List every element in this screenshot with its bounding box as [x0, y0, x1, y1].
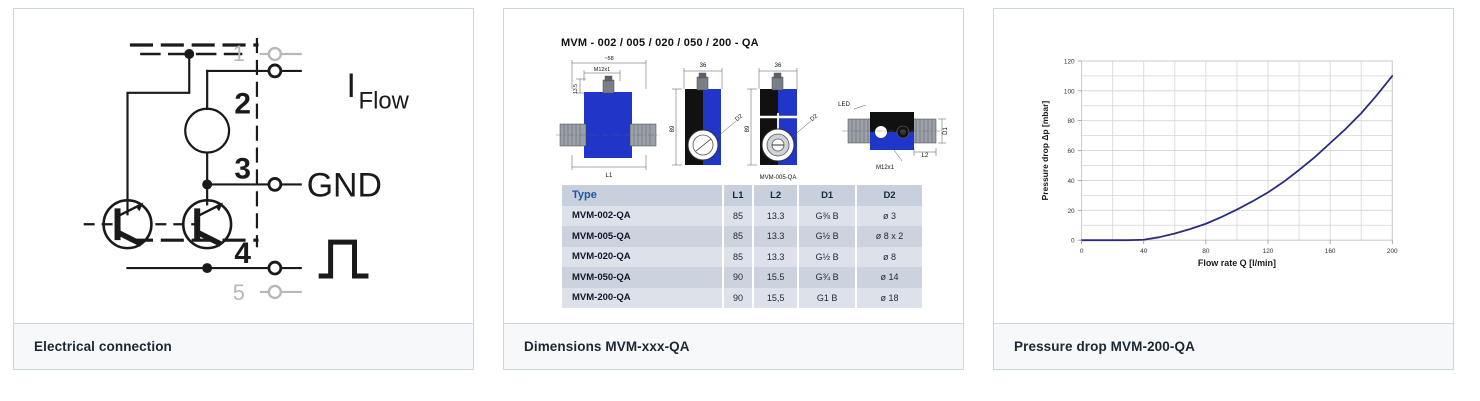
terminal-ring-5 — [269, 286, 281, 298]
pulse-waveform-icon — [319, 242, 369, 276]
cell-l2: 15,5 — [753, 288, 798, 309]
panel-caption-electrical: Electrical connection — [14, 323, 473, 369]
terminal-ring-1 — [269, 48, 281, 60]
callout-height-89-b: 89 — [745, 125, 751, 132]
chart-x-tick: 200 — [1387, 248, 1398, 255]
column-header-l2: L2 — [753, 185, 798, 206]
drawing-view-top: LED D1 L2 M12x1 — [838, 102, 949, 171]
dimensions-table: Type L1 L2 D1 D2 MVM-002-QA 85 13.3 G⅜ B… — [562, 185, 922, 308]
caption-text: Electrical connection — [34, 339, 172, 354]
cell-l1: 85 — [723, 206, 753, 227]
dimensions-figure: MVM - 002 / 005 / 020 / 050 / 200 - QA — [504, 9, 963, 323]
callout-l2: L2 — [922, 153, 929, 159]
junction-dot-gnd — [202, 179, 212, 189]
caption-text: Pressure drop MVM-200-QA — [1014, 339, 1195, 354]
chart-x-tick: 0 — [1080, 248, 1084, 255]
cell-type: MVM-050-QA — [562, 267, 723, 288]
terminal-ring-4 — [269, 262, 281, 274]
terminal-number-4: 4 — [234, 237, 251, 270]
cell-type: MVM-002-QA — [562, 206, 723, 227]
table-row: MVM-005-QA 85 13.3 G½ B ø 8 x 2 — [562, 226, 922, 247]
cell-l2: 13.3 — [753, 247, 798, 268]
chart-y-tick: 120 — [1064, 58, 1075, 65]
chart-x-tick: 80 — [1202, 248, 1210, 255]
callout-thread-side: M12x1 — [876, 165, 895, 171]
column-header-type: Type — [562, 185, 723, 206]
electrical-schematic: 1 2 3 4 5 I Flow GND — [14, 9, 473, 323]
table-row: MVM-200-QA 90 15,5 G1 B ø 18 — [562, 288, 922, 309]
chart-y-tick-labels: 020406080100120 — [1064, 58, 1082, 244]
panel-caption-pressure-drop: Pressure drop MVM-200-QA — [994, 323, 1453, 369]
callout-d1: D1 — [943, 127, 949, 135]
callout-width-36-a: 36 — [700, 63, 707, 69]
chart-x-tick: 40 — [1140, 248, 1148, 255]
callout-height-small: 13.5 — [573, 84, 579, 94]
callout-d2-b: D2 — [809, 113, 819, 123]
cell-l2: 15.5 — [753, 267, 798, 288]
chart-y-tick: 80 — [1067, 118, 1075, 125]
cell-d1: G½ B — [798, 247, 856, 268]
callout-variant-label: MVM-005-QA — [760, 175, 797, 181]
label-current-subscript: Flow — [358, 88, 409, 115]
electrical-connection-figure: 1 2 3 4 5 I Flow GND — [14, 9, 473, 323]
terminal-number-5: 5 — [233, 280, 245, 305]
callout-width-36-b: 36 — [775, 63, 782, 69]
chart-y-tick: 100 — [1064, 88, 1075, 95]
terminal-ring-2 — [269, 65, 281, 77]
chart-x-axis-label: Flow rate Q [l/min] — [1198, 258, 1276, 268]
cell-d2: ø 14 — [856, 267, 922, 288]
cell-d2: ø 8 — [856, 247, 922, 268]
panel-electrical-connection: 1 2 3 4 5 I Flow GND Electrical connecti… — [13, 8, 474, 370]
cell-l1: 85 — [723, 226, 753, 247]
pressure-drop-figure: 020406080100120 04080120160200 Pressure … — [994, 9, 1453, 323]
pressure-drop-chart: 020406080100120 04080120160200 Pressure … — [994, 9, 1453, 323]
column-header-d2: D2 — [856, 185, 922, 206]
terminal-number-2: 2 — [234, 88, 251, 121]
cell-l1: 90 — [723, 267, 753, 288]
chart-y-tick: 0 — [1071, 238, 1075, 245]
cell-d1: G½ B — [798, 226, 856, 247]
column-header-d1: D1 — [798, 185, 856, 206]
chart-y-tick: 60 — [1067, 148, 1075, 155]
junction-dot-top — [184, 49, 194, 59]
callout-l1: L1 — [606, 173, 613, 179]
cell-l1: 90 — [723, 288, 753, 309]
cell-l1: 85 — [723, 247, 753, 268]
column-header-l1: L1 — [723, 185, 753, 206]
drawing-view-side: 89 36 D2 — [670, 63, 745, 165]
cell-l2: 13.3 — [753, 206, 798, 227]
panel-dimensions: MVM - 002 / 005 / 020 / 050 / 200 - QA — [503, 8, 964, 370]
callout-led: LED — [838, 102, 850, 108]
callout-d2-a: D2 — [734, 113, 744, 123]
callout-thread-top: M12x1 — [594, 67, 611, 73]
terminal-number-1: 1 — [233, 41, 245, 66]
table-row: MVM-050-QA 90 15.5 G¾ B ø 14 — [562, 267, 922, 288]
inactive-terminal-leads — [261, 54, 301, 292]
cell-type: MVM-005-QA — [562, 226, 723, 247]
callout-height-89-a: 89 — [670, 125, 676, 132]
cell-type: MVM-200-QA — [562, 288, 723, 309]
table-row: MVM-002-QA 85 13.3 G⅜ B ø 3 — [562, 206, 922, 227]
cell-d1: G⅜ B — [798, 206, 856, 227]
chart-x-tick: 120 — [1263, 248, 1274, 255]
cell-l2: 13.3 — [753, 226, 798, 247]
terminal-ring-3 — [269, 178, 281, 190]
panel-pressure-drop: 020406080100120 04080120160200 Pressure … — [993, 8, 1454, 370]
terminal-number-3: 3 — [234, 152, 251, 185]
chart-x-tick-labels: 04080120160200 — [1080, 240, 1398, 255]
junction-dot-pulse — [202, 263, 212, 273]
drawing-view-section: 89 36 D2 MVM-005-QA — [745, 63, 820, 181]
chart-x-tick: 160 — [1325, 248, 1336, 255]
cell-type: MVM-020-QA — [562, 247, 723, 268]
caption-text: Dimensions MVM-xxx-QA — [524, 339, 690, 354]
chart-y-tick: 40 — [1067, 178, 1075, 185]
panel-board: 1 2 3 4 5 I Flow GND Electrical connecti… — [0, 0, 1480, 401]
cell-d2: ø 18 — [856, 288, 922, 309]
label-gnd: GND — [307, 166, 382, 204]
drawing-view-front: ~58 M12x1 13.5 L1 — [556, 56, 660, 179]
panel-caption-dimensions: Dimensions MVM-xxx-QA — [504, 323, 963, 369]
label-current-symbol: I — [347, 67, 356, 105]
drawing-title: MVM - 002 / 005 / 020 / 050 / 200 - QA — [561, 37, 759, 49]
product-dimension-drawings: ~58 M12x1 13.5 L1 — [554, 49, 954, 184]
chart-gridlines — [1082, 61, 1393, 240]
cell-d1: G¾ B — [798, 267, 856, 288]
callout-overall-width: ~58 — [604, 56, 613, 62]
chart-y-tick: 20 — [1067, 208, 1075, 215]
cell-d2: ø 3 — [856, 206, 922, 227]
table-row: MVM-020-QA 85 13.3 G½ B ø 8 — [562, 247, 922, 268]
table-header-row: Type L1 L2 D1 D2 — [562, 185, 922, 206]
chart-y-axis-label: Pressure drop Δp [mbar] — [1040, 101, 1050, 201]
cell-d2: ø 8 x 2 — [856, 226, 922, 247]
cell-d1: G1 B — [798, 288, 856, 309]
